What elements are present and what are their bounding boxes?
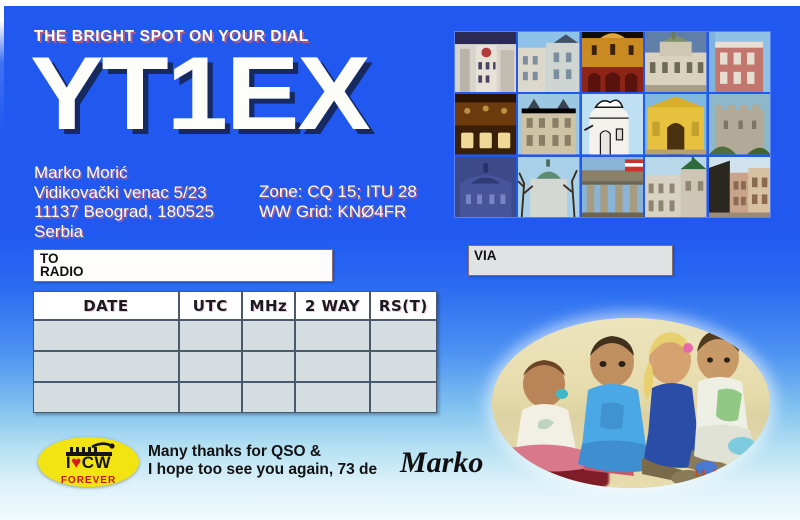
zone-info: Zone: CQ 15; ITU 28 WW Grid: KNØ4FR — [259, 182, 417, 221]
radio-label: RADIO — [40, 264, 84, 279]
column-header-rst: RS(T) — [370, 291, 437, 320]
operator-street: Vidikovački venac 5/23 — [34, 183, 214, 203]
collage-tile-belgrade-building-6 — [455, 94, 516, 154]
collage-tile-belgrade-building-4 — [645, 32, 706, 92]
column-header-utc: UTC — [179, 291, 242, 320]
family-photo: 18.09.2011 — [492, 318, 770, 488]
collage-tile-belgrade-building-7 — [518, 94, 579, 154]
badge-main-line: I♥CW — [38, 454, 139, 471]
photo-datestamp: 18.09.2011 — [694, 468, 756, 479]
collage-tile-belgrade-street — [709, 157, 770, 217]
table-row[interactable] — [33, 320, 437, 351]
cell-utc[interactable] — [179, 351, 242, 382]
collage-tile-belgrade-building-2 — [518, 32, 579, 92]
cell-mhz[interactable] — [242, 320, 295, 351]
via-box[interactable]: VIA — [468, 245, 673, 276]
cell-2way[interactable] — [295, 320, 370, 351]
to-radio-box[interactable]: TO RADIO — [33, 249, 333, 282]
operator-city: 11137 Beograd, 180525 — [34, 202, 214, 222]
i-love-cw-forever-badge: I♥CW FOREVER — [38, 437, 139, 487]
column-header-2way: 2 WAY — [295, 291, 370, 320]
collage-tile-belgrade-fortress-tower — [709, 94, 770, 154]
card-left-margin — [0, 0, 4, 520]
thanks-line-1: Many thanks for QSO & — [148, 443, 377, 461]
cell-2way[interactable] — [295, 382, 370, 413]
collage-tile-belgrade-building-1 — [455, 32, 516, 92]
collage-tile-belgrade-monument — [455, 157, 516, 217]
cell-rst[interactable] — [370, 382, 437, 413]
column-header-mhz: MHz — [242, 291, 295, 320]
zone-ww-grid: WW Grid: KNØ4FR — [259, 202, 417, 222]
cell-date[interactable] — [33, 320, 179, 351]
thanks-message: Many thanks for QSO & I hope too see you… — [148, 443, 377, 479]
signature: Marko — [400, 446, 483, 480]
cell-utc[interactable] — [179, 320, 242, 351]
table-row[interactable] — [33, 382, 437, 413]
collage-tile-belgrade-building-5 — [709, 32, 770, 92]
cell-date[interactable] — [33, 351, 179, 382]
heart-icon: ♥ — [71, 453, 82, 472]
cell-rst[interactable] — [370, 351, 437, 382]
child-4 — [694, 330, 766, 472]
qsl-card: THE BRIGHT SPOT ON YOUR DIAL YT1EX Marko… — [0, 0, 800, 520]
cell-rst[interactable] — [370, 320, 437, 351]
operator-address: Marko Morić Vidikovački venac 5/23 11137… — [34, 163, 214, 241]
photo-children — [492, 318, 770, 488]
collage-tile-belgrade-building-12 — [582, 157, 643, 217]
badge-cw: CW — [82, 453, 111, 472]
card-top-margin — [0, 0, 800, 6]
collage-tile-belgrade-building-11 — [518, 157, 579, 217]
callsign: YT1EX — [30, 42, 369, 146]
table-row[interactable] — [33, 351, 437, 382]
thanks-line-2: I hope too see you again, 73 de — [148, 461, 377, 479]
qso-log-table: DATE UTC MHz 2 WAY RS(T) — [33, 291, 437, 413]
cell-utc[interactable] — [179, 382, 242, 413]
zone-cq-itu: Zone: CQ 15; ITU 28 — [259, 182, 417, 202]
collage-tile-belgrade-building-9 — [645, 94, 706, 154]
operator-country: Serbia — [34, 222, 214, 242]
collage-tile-belgrade-building-8 — [582, 94, 643, 154]
cell-date[interactable] — [33, 382, 179, 413]
badge-forever: FOREVER — [38, 475, 139, 486]
collage-tile-belgrade-building-14 — [645, 157, 706, 217]
cell-2way[interactable] — [295, 351, 370, 382]
via-label: VIA — [474, 248, 497, 263]
column-header-date: DATE — [33, 291, 179, 320]
table-header-row: DATE UTC MHz 2 WAY RS(T) — [33, 291, 437, 320]
cell-mhz[interactable] — [242, 382, 295, 413]
belgrade-photo-collage — [455, 32, 770, 217]
collage-tile-belgrade-building-3 — [582, 32, 643, 92]
operator-name: Marko Morić — [34, 163, 214, 183]
cell-mhz[interactable] — [242, 351, 295, 382]
